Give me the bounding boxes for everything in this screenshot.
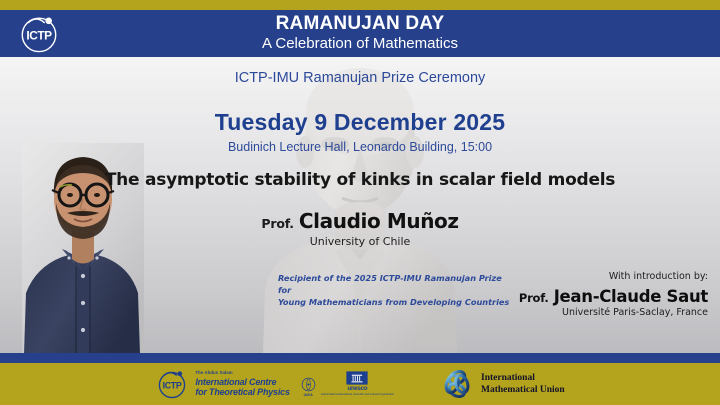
poster-subtitle: A Celebration of Mathematics (262, 35, 458, 52)
imu-text: International Mathematical Union (481, 372, 565, 396)
imu-lockup: International Mathematical Union (440, 367, 565, 401)
unesco-temple-icon (346, 371, 368, 385)
speaker-prefix: Prof. (261, 216, 293, 231)
introducer-line: Prof. Jean-Claude Saut (418, 287, 708, 306)
speaker-name: Claudio Muñoz (299, 209, 459, 233)
top-gold-bar (0, 0, 720, 10)
unesco-tagline: United Nations Educational, Scientific a… (321, 393, 394, 396)
main-content: ICTP-IMU Ramanujan Prize Ceremony Tuesda… (0, 57, 720, 353)
introducer-name: Jean-Claude Saut (554, 287, 708, 306)
ictp-footer-text: The Abdus Salam International Centre for… (195, 371, 289, 396)
introducer-affiliation: Université Paris-Saclay, France (418, 307, 708, 318)
agency-logos: IAEA unesco United Nations Educational, … (301, 371, 394, 396)
imu-knot-icon (440, 367, 474, 401)
introducer-prefix: Prof. (519, 291, 549, 305)
ceremony-line: ICTP-IMU Ramanujan Prize Ceremony (0, 70, 720, 86)
event-venue: Budinich Lecture Hall, Leonardo Building… (0, 140, 720, 154)
talk-title: The asymptotic stability of kinks in sca… (0, 170, 720, 190)
unesco-wordmark: unesco (347, 386, 367, 392)
speaker-affiliation: University of Chile (0, 235, 720, 248)
footer-logos: ICTP The Abdus Salam International Centr… (0, 363, 720, 405)
ictp-footer-logo-icon: ICTP (155, 367, 189, 401)
unesco-logo: unesco United Nations Educational, Scien… (321, 371, 394, 396)
imu-line-2: Mathematical Union (481, 384, 565, 396)
iaea-logo: IAEA (301, 377, 316, 397)
svg-text:ICTP: ICTP (163, 380, 182, 390)
ictp-abdus-salam: The Abdus Salam (195, 371, 289, 375)
iaea-caption: IAEA (304, 393, 313, 397)
imu-line-1: International (481, 372, 565, 384)
poster-root: ICTP RAMANUJAN DAY A Celebration of Math… (0, 0, 720, 405)
bottom-blue-band (0, 353, 720, 363)
ictp-name-line-1: International Centre (195, 377, 289, 387)
ictp-footer-lockup: ICTP The Abdus Salam International Centr… (155, 367, 394, 401)
poster-title: RAMANUJAN DAY (276, 14, 445, 34)
speaker-line: Prof. Claudio Muñoz (0, 209, 720, 233)
introduction-label: With introduction by: (418, 271, 708, 282)
ictp-name-line-2: for Theoretical Physics (195, 387, 289, 397)
introduction-block: With introduction by: Prof. Jean-Claude … (418, 271, 708, 318)
iaea-atom-icon (301, 377, 316, 392)
event-date: Tuesday 9 December 2025 (0, 109, 720, 136)
header-titles: RAMANUJAN DAY A Celebration of Mathemati… (0, 10, 720, 57)
